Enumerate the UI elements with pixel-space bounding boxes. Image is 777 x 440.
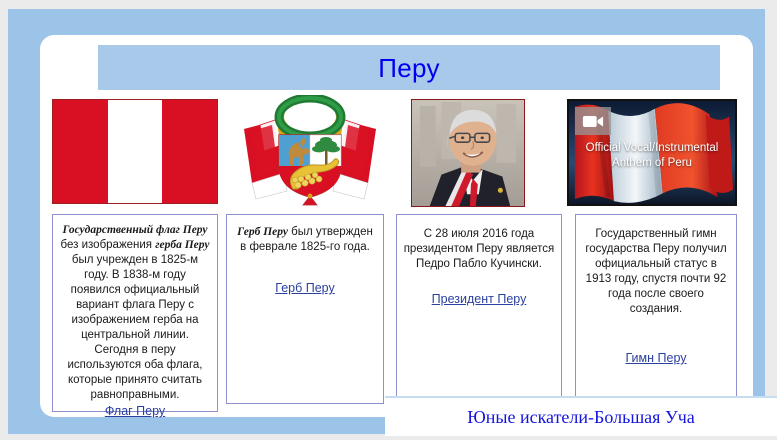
link-anthem-peru[interactable]: Гимн Перу bbox=[582, 351, 730, 365]
president-photo bbox=[411, 99, 525, 207]
footer-bar: Юные искатели-Большая Уча bbox=[385, 396, 777, 436]
textbox-flag-text-1: без изображения bbox=[61, 239, 156, 251]
textbox-anthem: Государственный гимн государства Перу по… bbox=[575, 214, 737, 404]
textbox-flag-text-2: был учрежден в 1825-м году. В 1838-м год… bbox=[68, 254, 203, 401]
flag-stripe-center-white bbox=[108, 100, 162, 203]
textbox-coat-body: Герб Перу был утвержден в феврале 1825-г… bbox=[233, 223, 377, 255]
textbox-flag-lead: Государственный флаг Перу bbox=[62, 224, 207, 236]
textbox-flag: Государственный флаг Перу без изображени… bbox=[52, 214, 218, 412]
footer-organization-name: Юные искатели-Большая Уча bbox=[467, 407, 695, 428]
textbox-flag-body: Государственный флаг Перу без изображени… bbox=[59, 223, 211, 403]
link-president-peru[interactable]: Президент Перу bbox=[403, 292, 555, 306]
flag-stripe-left-red bbox=[53, 100, 108, 203]
anthem-video-caption: Official Vocal/Instrumental Anthem of Pe… bbox=[569, 141, 735, 171]
textbox-president-body: С 28 июля 2016 года президентом Перу явл… bbox=[403, 223, 555, 272]
video-camera-icon bbox=[575, 107, 611, 135]
link-coat-of-arms-peru[interactable]: Герб Перу bbox=[233, 281, 377, 295]
anthem-video-thumbnail[interactable]: Official Vocal/Instrumental Anthem of Pe… bbox=[567, 99, 737, 206]
link-flag-peru[interactable]: Флаг Перу bbox=[59, 404, 211, 418]
textbox-president: С 28 июля 2016 года президентом Перу явл… bbox=[396, 214, 562, 404]
flag-stripe-right-red bbox=[162, 100, 217, 203]
textbox-coat-of-arms: Герб Перу был утвержден в феврале 1825-г… bbox=[226, 214, 384, 404]
slide-blue-frame: Перу bbox=[8, 9, 765, 434]
title-band: Перу bbox=[98, 45, 720, 90]
coat-of-arms-of-peru-image bbox=[230, 95, 390, 207]
textbox-flag-lead-2: герба Перу bbox=[155, 239, 209, 251]
textbox-anthem-body: Государственный гимн государства Перу по… bbox=[582, 223, 730, 317]
page-title: Перу bbox=[378, 55, 440, 81]
textbox-coat-lead: Герб Перу bbox=[237, 226, 288, 238]
flag-of-peru-image bbox=[52, 99, 218, 204]
